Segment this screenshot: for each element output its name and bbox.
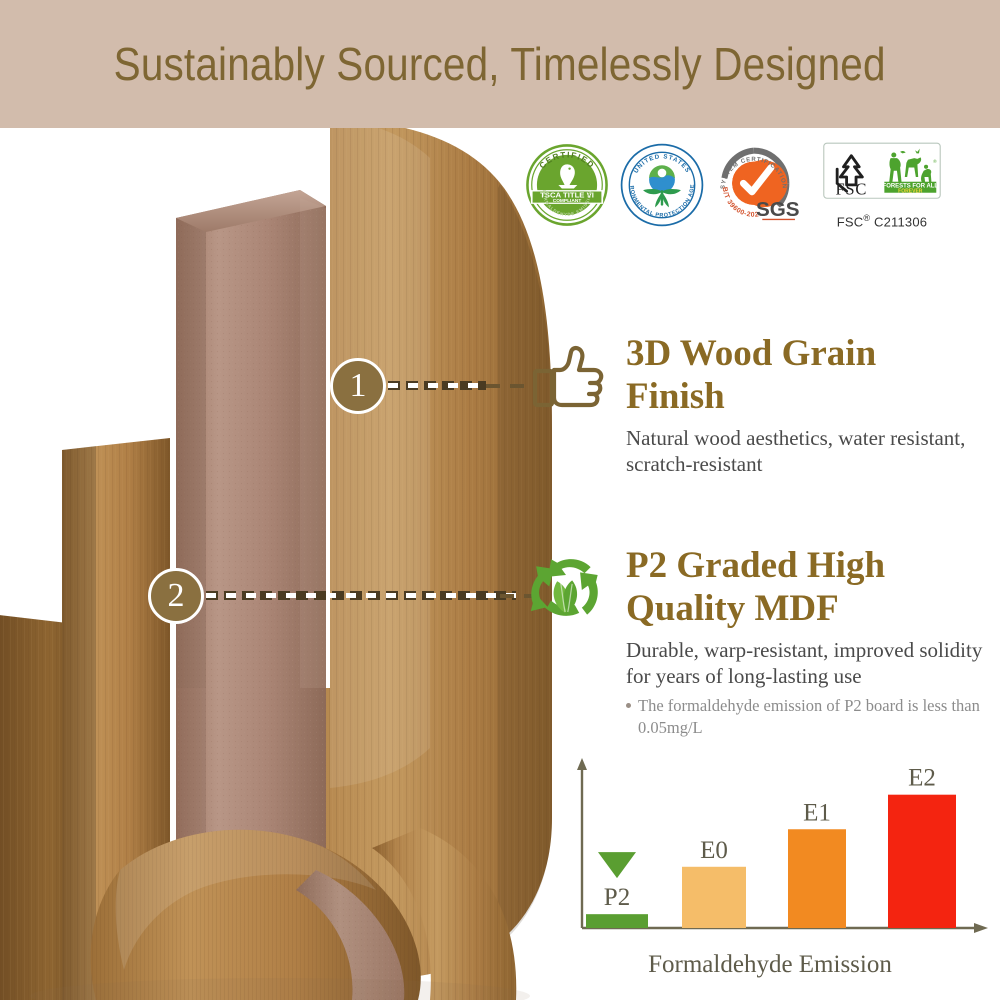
chart-label-p2: P2 (604, 884, 630, 911)
fsc-wordmark: FSC (835, 179, 867, 198)
callout-connector-1-tail (486, 384, 532, 388)
page-title: Sustainably Sourced, Timelessly Designed (114, 37, 886, 91)
fsc-badge: FSC FORESTS FOR ALL FOREVER (823, 142, 941, 229)
feature-2-note: The formaldehyde emission of P2 board is… (626, 695, 1000, 738)
tsca-badge: CERTIFIED TSCA TITLE VI COMPLIANT FORMAL… (524, 142, 610, 228)
chart-label-e0: E0 (700, 837, 728, 864)
feature-1-title-line2: Finish (626, 376, 725, 417)
fsc-license-code: FSC® C211306 (823, 213, 941, 229)
sgs-badge: SYSTEM CERTIFICATION GB/T 39600-2021 SGS (714, 142, 814, 228)
feature-block-1: 3D Wood Grain Finish Natural wood aesthe… (626, 332, 998, 477)
fsc-code-value: C211306 (874, 214, 927, 229)
chart-bar-e1 (788, 829, 846, 928)
formaldehyde-emission-chart: P2E0E1E2 Formaldehyde Emission (560, 756, 1000, 992)
chart-label-e2: E2 (908, 765, 936, 792)
chart-x-axis-label: Formaldehyde Emission (560, 951, 980, 979)
tsca-banner-line2: COMPLIANT (553, 198, 582, 204)
feature-2-title-line2: Quality MDF (626, 588, 839, 629)
header-banner: Sustainably Sourced, Timelessly Designed (0, 0, 1000, 128)
fsc-code-prefix: FSC (837, 214, 864, 229)
certification-badges: CERTIFIED TSCA TITLE VI COMPLIANT FORMAL… (524, 142, 980, 242)
chart-bar-p2 (586, 914, 648, 928)
fsc-tagline-line2: FOREVER (898, 188, 923, 194)
fsc-code-sup: ® (863, 213, 870, 223)
chart-bar-e2 (888, 795, 956, 928)
chart-down-triangle-marker (598, 852, 636, 878)
epa-badge: UNITED STATES ENVIRONMENTAL PROTECTION A… (619, 142, 705, 228)
recycle-leaf-icon (522, 546, 610, 639)
chart-p2-marker (598, 852, 636, 878)
callout-connector-1 (388, 381, 486, 390)
feature-2-description: Durable, warp-resistant, improved solidi… (626, 637, 1000, 690)
chart-label-e1: E1 (803, 799, 831, 826)
callout-marker-2[interactable]: 2 (148, 568, 204, 624)
callout-marker-1[interactable]: 1 (330, 358, 386, 414)
thumbs-up-icon (530, 344, 608, 415)
feature-block-2: P2 Graded High Quality MDF Durable, warp… (626, 544, 1000, 738)
chart-bars (586, 795, 956, 928)
feature-1-description: Natural wood aesthetics, water resistant… (626, 425, 998, 478)
sgs-wordmark: SGS (756, 198, 800, 221)
feature-2-title-line1: P2 Graded High (626, 545, 885, 586)
feature-2-title: P2 Graded High Quality MDF (626, 544, 1000, 631)
chart-bar-e0 (682, 867, 746, 928)
feature-1-title: 3D Wood Grain Finish (626, 332, 998, 419)
chart-bar-labels: P2E0E1E2 (604, 765, 936, 911)
feature-1-title-line1: 3D Wood Grain (626, 333, 876, 374)
mdf-wood-panel-photo (0, 128, 560, 1000)
callout-connector-2 (206, 591, 516, 600)
infographic-root: Sustainably Sourced, Timelessly Designed (0, 0, 1000, 1000)
